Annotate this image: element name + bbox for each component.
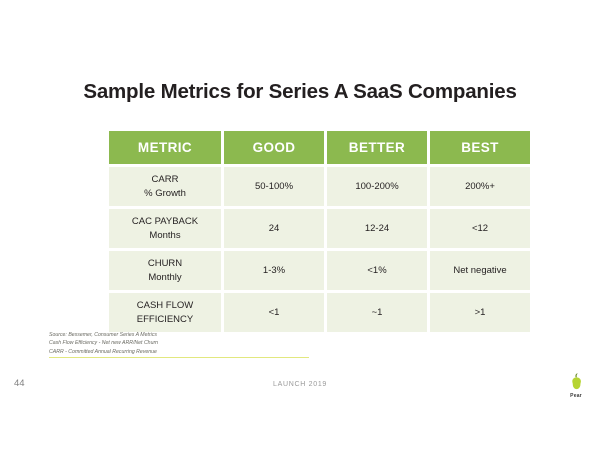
metric-name-secondary: Monthly <box>109 271 221 284</box>
footnote-source: Source: Bessemer, Consumer Series A Metr… <box>49 331 309 339</box>
column-header-best: BEST <box>430 131 530 164</box>
column-header-metric: METRIC <box>109 131 221 164</box>
metric-name-secondary: Months <box>109 229 221 242</box>
footer-event-label: LAUNCH 2019 <box>0 381 600 388</box>
cell-good: 50-100% <box>224 167 324 206</box>
footnote-cash-flow: Cash Flow Efficiency - Net new ARR/Net C… <box>49 339 309 347</box>
cell-best: 200%+ <box>430 167 530 206</box>
column-header-good: GOOD <box>224 131 324 164</box>
metric-label-cell: CARR % Growth <box>109 167 221 206</box>
metric-name-secondary: % Growth <box>109 187 221 200</box>
pear-icon <box>569 373 584 392</box>
cell-good: 24 <box>224 209 324 248</box>
slide-canvas: Sample Metrics for Series A SaaS Compani… <box>0 0 600 463</box>
metric-label-cell: CHURN Monthly <box>109 251 221 290</box>
footnotes-block: Source: Bessemer, Consumer Series A Metr… <box>49 331 309 358</box>
brand-logo: Pear <box>560 373 592 399</box>
cell-best: Net negative <box>430 251 530 290</box>
cell-better: 100-200% <box>327 167 427 206</box>
brand-name: Pear <box>560 393 592 399</box>
cell-best: >1 <box>430 293 530 332</box>
metric-label-cell: CASH FLOW EFFICIENCY <box>109 293 221 332</box>
metric-name-primary: CASH FLOW <box>109 299 221 312</box>
metric-name-primary: CARR <box>109 173 221 186</box>
cell-good: <1 <box>224 293 324 332</box>
page-title: Sample Metrics for Series A SaaS Compani… <box>0 80 600 104</box>
cell-better: ~1 <box>327 293 427 332</box>
metrics-table: METRIC GOOD BETTER BEST CARR % Growth 50… <box>106 128 533 335</box>
cell-better: 12-24 <box>327 209 427 248</box>
column-header-better: BETTER <box>327 131 427 164</box>
table-header-row: METRIC GOOD BETTER BEST <box>109 131 530 164</box>
table-row: CAC PAYBACK Months 24 12-24 <12 <box>109 209 530 248</box>
table-row: CHURN Monthly 1-3% <1% Net negative <box>109 251 530 290</box>
metric-name-secondary: EFFICIENCY <box>109 313 221 326</box>
metric-name-primary: CAC PAYBACK <box>109 215 221 228</box>
metric-label-cell: CAC PAYBACK Months <box>109 209 221 248</box>
cell-better: <1% <box>327 251 427 290</box>
metric-name-primary: CHURN <box>109 257 221 270</box>
table-row: CARR % Growth 50-100% 100-200% 200%+ <box>109 167 530 206</box>
cell-best: <12 <box>430 209 530 248</box>
table-row: CASH FLOW EFFICIENCY <1 ~1 >1 <box>109 293 530 332</box>
footnote-carr: CARR - Committed Annual Recurring Revenu… <box>49 348 309 356</box>
cell-good: 1-3% <box>224 251 324 290</box>
